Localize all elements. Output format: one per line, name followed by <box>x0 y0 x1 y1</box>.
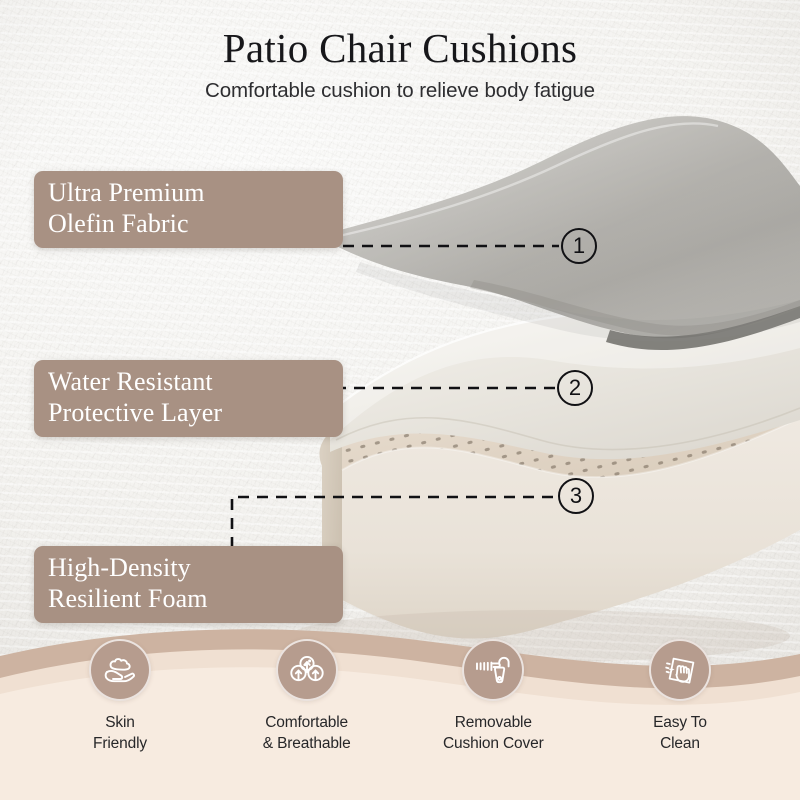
hand-wiping-cloth-sparkle-icon <box>660 650 700 690</box>
callout-label-1: Ultra Premium Olefin Fabric <box>34 171 343 248</box>
feature-item-breathable: Comfortable & Breathable <box>233 620 381 800</box>
zipper-pull-icon <box>473 650 513 690</box>
feature-label-4-line2: Clean <box>653 734 707 755</box>
olefin-fabric-top-layer <box>318 116 800 350</box>
features-band: Skin Friendly <box>0 620 800 800</box>
feature-label-2-line1: Comfortable <box>263 713 351 734</box>
callout-bullet-3: 3 <box>558 478 594 514</box>
callout-label-3-line2: Resilient Foam <box>48 584 329 615</box>
page-title: Patio Chair Cushions <box>0 0 800 70</box>
hand-holding-cushion-icon <box>100 650 140 690</box>
feature-badge-1 <box>89 639 151 701</box>
feature-label-2-line2: & Breathable <box>263 734 351 755</box>
callout-bullet-1: 1 <box>561 228 597 264</box>
callout-label-2-line1: Water Resistant <box>48 367 329 398</box>
feature-label-3: Removable Cushion Cover <box>443 713 544 754</box>
feature-label-1-line2: Friendly <box>93 734 147 755</box>
feature-label-1: Skin Friendly <box>93 713 147 754</box>
features-row: Skin Friendly <box>0 620 800 800</box>
feature-item-removable-cover: Removable Cushion Cover <box>419 620 567 800</box>
callout-label-2-line2: Protective Layer <box>48 398 329 429</box>
feature-label-3-line2: Cushion Cover <box>443 734 544 755</box>
feature-badge-2 <box>276 639 338 701</box>
breathable-airflow-clouds-icon <box>287 650 327 690</box>
infographic-page: Patio Chair Cushions Comfortable cushion… <box>0 0 800 800</box>
feature-badge-3 <box>462 639 524 701</box>
callout-bullet-2: 2 <box>557 370 593 406</box>
header: Patio Chair Cushions Comfortable cushion… <box>0 0 800 103</box>
callout-label-1-line1: Ultra Premium <box>48 178 329 209</box>
feature-label-2: Comfortable & Breathable <box>263 713 351 754</box>
callout-label-3-line1: High-Density <box>48 553 329 584</box>
page-subtitle: Comfortable cushion to relieve body fati… <box>0 70 800 103</box>
callout-label-1-line2: Olefin Fabric <box>48 209 329 240</box>
feature-label-3-line1: Removable <box>443 713 544 734</box>
feature-label-4: Easy To Clean <box>653 713 707 754</box>
feature-item-skin-friendly: Skin Friendly <box>46 620 194 800</box>
feature-badge-4 <box>649 639 711 701</box>
callout-label-3: High-Density Resilient Foam <box>34 546 343 623</box>
feature-label-4-line1: Easy To <box>653 713 707 734</box>
callout-label-2: Water Resistant Protective Layer <box>34 360 343 437</box>
feature-item-easy-clean: Easy To Clean <box>606 620 754 800</box>
feature-label-1-line1: Skin <box>93 713 147 734</box>
